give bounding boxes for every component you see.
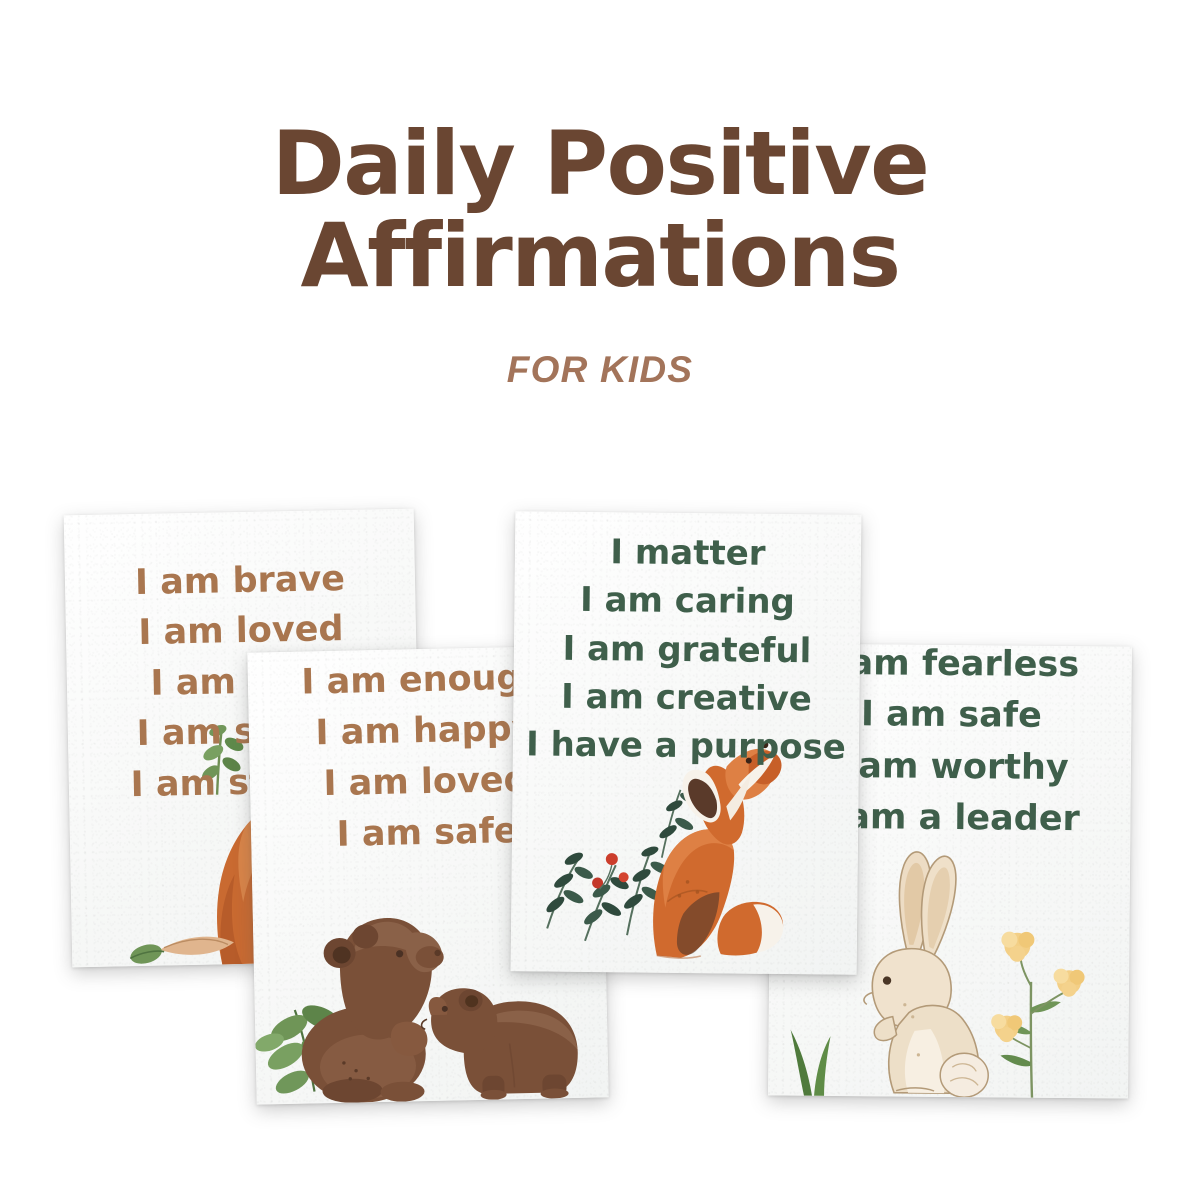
affirmation-line: I am grateful [514, 624, 860, 676]
flower-icon [1053, 968, 1084, 996]
poster-canvas: Daily Positive Affirmations FOR KIDS I a… [0, 0, 1200, 1200]
affirmation-line: I am creative [513, 672, 859, 724]
fox-body [653, 740, 785, 959]
affirmation-line: I am caring [514, 575, 860, 627]
affirmation-line: I have a purpose [513, 720, 859, 772]
small-leaf-icon [128, 941, 164, 967]
affirmation-card-group: I am brave I am loved I am kind I am sma… [0, 0, 1200, 1200]
affirmation-lines: I matter I am caring I am grateful I am … [513, 527, 862, 772]
bear-cub [421, 986, 579, 1101]
affirmation-line: I am brave [65, 553, 416, 610]
affirmation-card-fox-green[interactable]: I matter I am caring I am grateful I am … [511, 511, 862, 975]
grass-blade-icon [790, 1030, 831, 1096]
flower-sprig-icon [991, 931, 1085, 1098]
flower-icon [991, 1014, 1022, 1042]
rabbit-body [863, 851, 990, 1097]
affirmation-line: I matter [515, 527, 861, 579]
flower-icon [1001, 931, 1034, 961]
